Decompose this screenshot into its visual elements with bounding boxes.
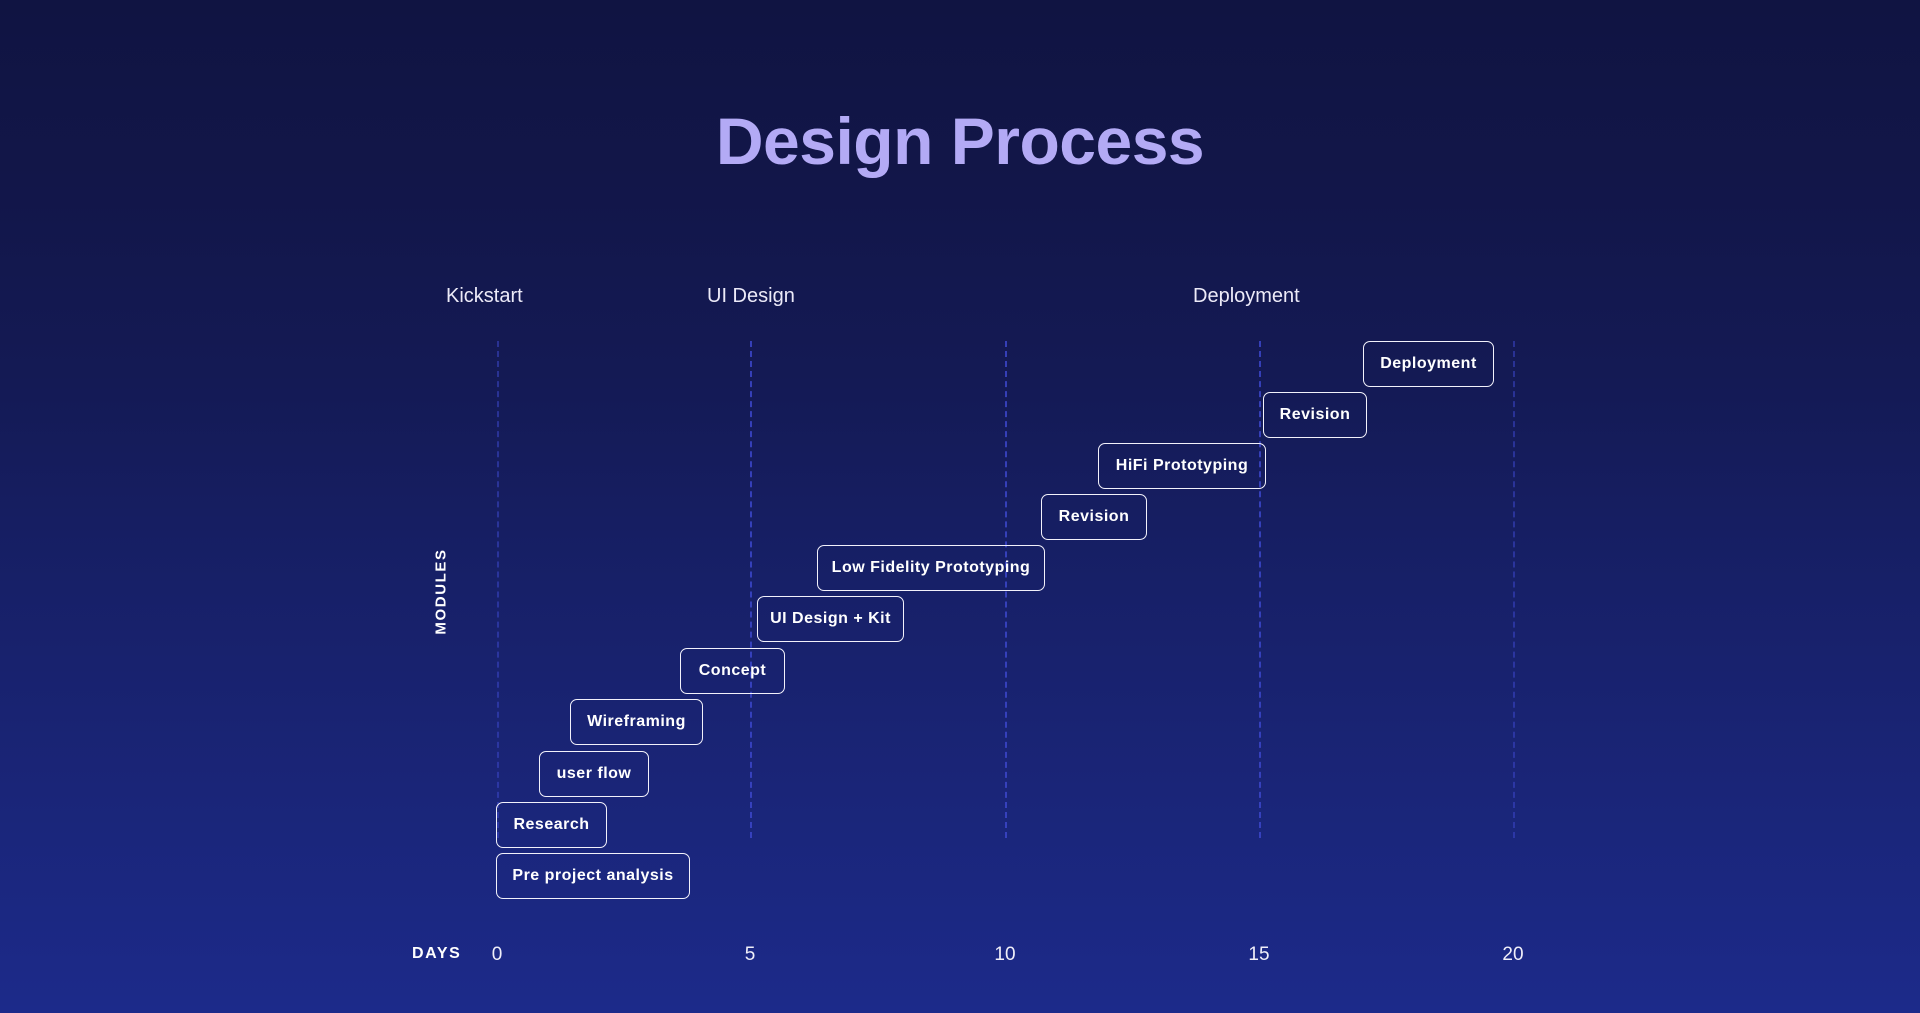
- task-bar[interactable]: UI Design + Kit: [757, 596, 904, 642]
- task-bar-label: Low Fidelity Prototyping: [832, 559, 1031, 577]
- task-bar[interactable]: Research: [496, 802, 607, 848]
- task-bar[interactable]: Concept: [680, 648, 785, 694]
- task-bar-label: Revision: [1280, 406, 1351, 424]
- task-bar[interactable]: Revision: [1263, 392, 1367, 438]
- y-axis-title: MODULES: [433, 548, 450, 634]
- task-bar[interactable]: HiFi Prototyping: [1098, 443, 1266, 489]
- phase-label-kickstart: Kickstart: [446, 285, 523, 308]
- gantt-chart: Design Process KickstartUI DesignDeploym…: [0, 0, 1920, 1013]
- task-bar-label: Research: [513, 816, 589, 834]
- task-bar-label: HiFi Prototyping: [1116, 457, 1248, 475]
- task-bar[interactable]: Revision: [1041, 494, 1147, 540]
- task-bar-label: Wireframing: [587, 713, 686, 731]
- task-bar-label: Revision: [1059, 508, 1130, 526]
- phase-label-ui-design: UI Design: [707, 285, 795, 308]
- task-bar-label: user flow: [557, 765, 632, 783]
- phase-label-deployment: Deployment: [1193, 285, 1300, 308]
- task-bar[interactable]: user flow: [539, 751, 649, 797]
- task-bar-label: UI Design + Kit: [770, 610, 891, 628]
- x-axis-title: DAYS: [412, 945, 461, 963]
- gridline-day-5: [750, 341, 752, 838]
- x-axis-tick-20: 20: [1502, 944, 1523, 966]
- task-bar-label: Deployment: [1380, 355, 1477, 373]
- gridline-day-20: [1513, 341, 1515, 838]
- task-bar[interactable]: Deployment: [1363, 341, 1494, 387]
- task-bar-label: Concept: [699, 662, 767, 680]
- x-axis-tick-10: 10: [994, 944, 1015, 966]
- task-bar[interactable]: Wireframing: [570, 699, 703, 745]
- task-bar[interactable]: Pre project analysis: [496, 853, 690, 899]
- task-bar-label: Pre project analysis: [512, 867, 673, 885]
- page-title: Design Process: [0, 105, 1920, 178]
- gridline-day-0: [497, 341, 499, 838]
- x-axis-tick-0: 0: [492, 944, 503, 966]
- gridline-day-15: [1259, 341, 1261, 838]
- task-bar[interactable]: Low Fidelity Prototyping: [817, 545, 1045, 591]
- x-axis-tick-15: 15: [1248, 944, 1269, 966]
- x-axis-tick-5: 5: [745, 944, 756, 966]
